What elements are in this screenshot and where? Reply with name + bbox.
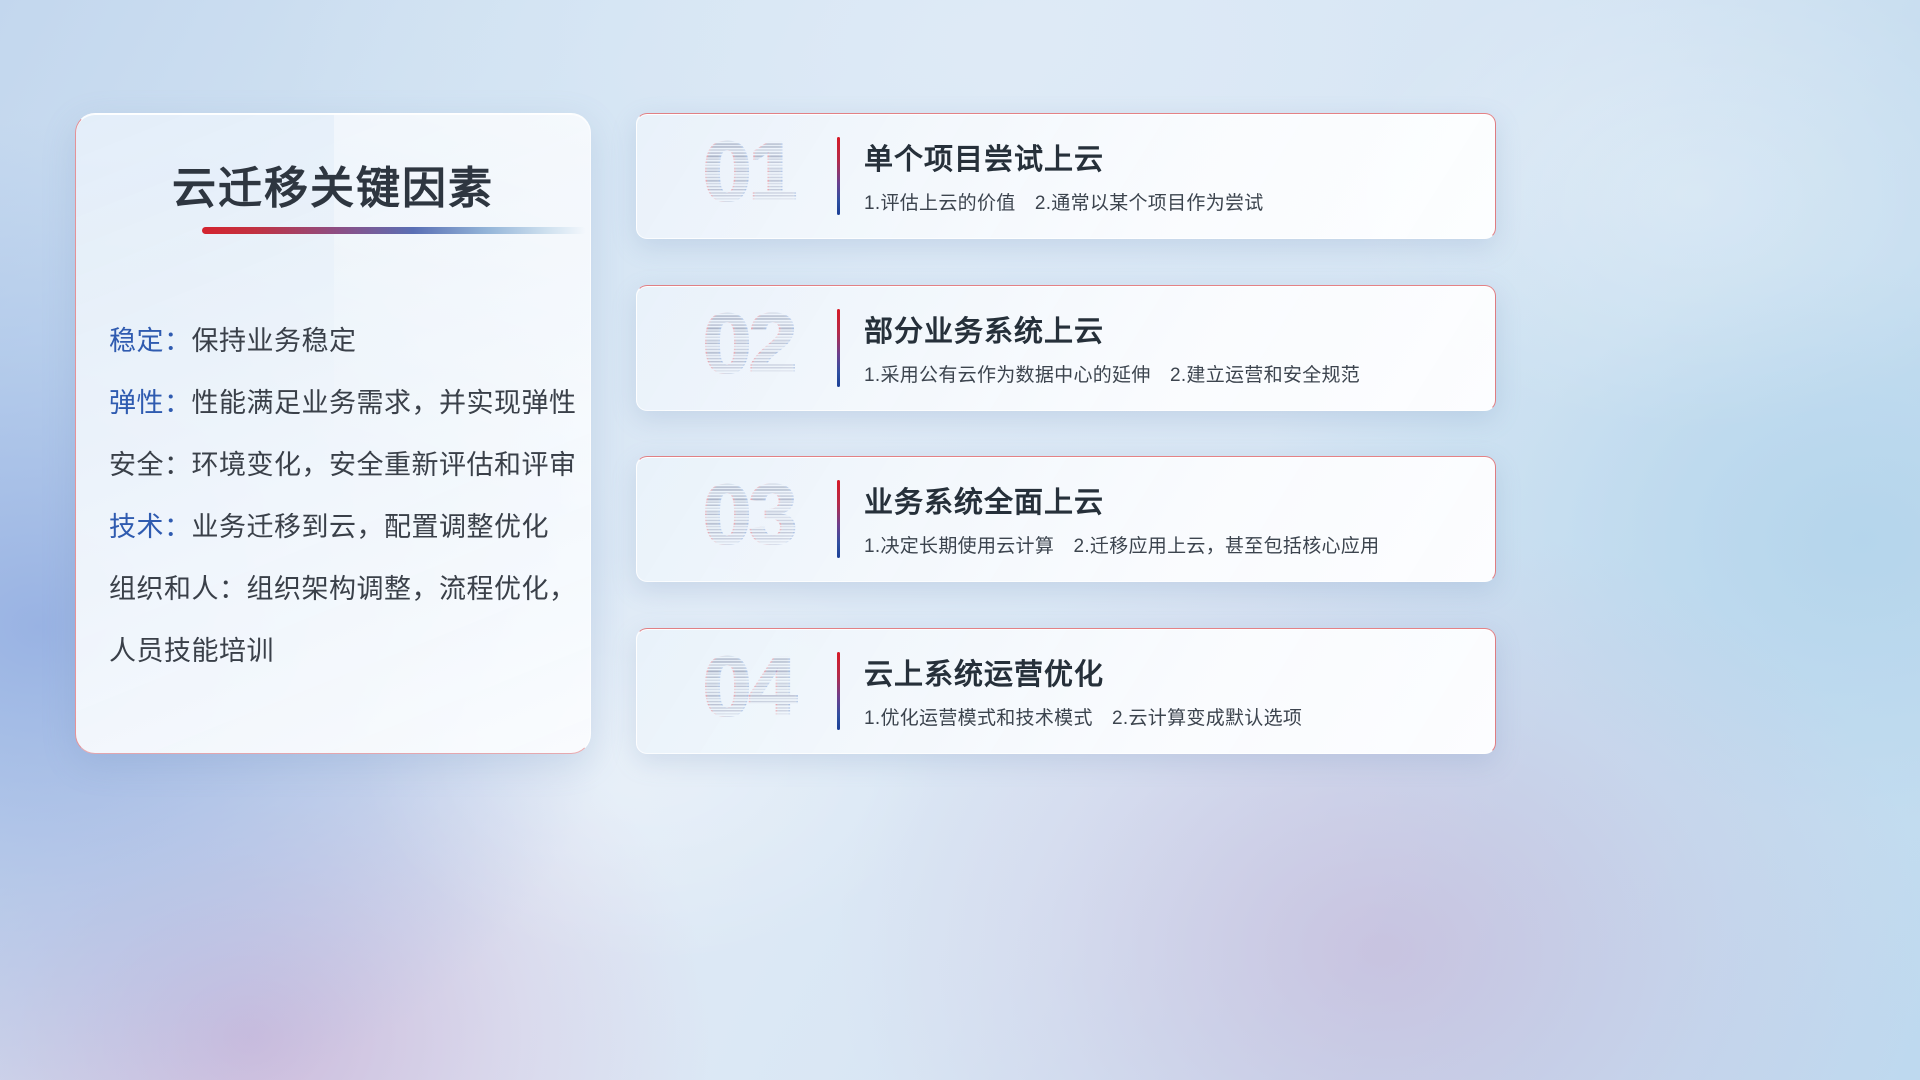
key-factor-label: 稳定：	[109, 326, 192, 356]
key-factor-value: 组织架构调整，流程优化，	[247, 574, 577, 604]
svg-text:04: 04	[703, 644, 797, 735]
stage-number-04: 040404	[675, 644, 823, 738]
card-accent-divider	[837, 137, 840, 215]
stage-card[interactable]: 010101单个项目尝试上云1.评估上云的价值 2.通常以某个项目作为尝试	[636, 113, 1496, 239]
card-accent-divider	[837, 480, 840, 558]
card-subtitle: 1.决定长期使用云计算 2.迁移应用上云，甚至包括核心应用	[864, 531, 1379, 558]
stage-card[interactable]: 040404云上系统运营优化1.优化运营模式和技术模式 2.云计算变成默认选项	[636, 628, 1496, 754]
key-factors-list: 稳定：保持业务稳定弹性：性能满足业务需求，并实现弹性安全：环境变化，安全重新评估…	[109, 310, 570, 682]
stage-card[interactable]: 020202部分业务系统上云1.采用公有云作为数据中心的延伸 2.建立运营和安全…	[636, 285, 1496, 411]
title-underline-gradient	[202, 227, 586, 234]
key-factor-row: 人员技能培训	[109, 620, 570, 682]
key-factor-value: 业务迁移到云，配置调整优化	[192, 512, 550, 542]
key-factor-row: 技术：业务迁移到云，配置调整优化	[109, 496, 570, 558]
key-factor-value: 保持业务稳定	[192, 326, 357, 356]
key-factor-label: 技术：	[109, 512, 192, 542]
key-factor-row: 安全：环境变化，安全重新评估和评审	[109, 434, 570, 496]
key-factor-row: 弹性：性能满足业务需求，并实现弹性	[109, 372, 570, 434]
card-title: 部分业务系统上云	[864, 308, 1104, 350]
key-factor-value: 环境变化，安全重新评估和评审	[192, 450, 577, 480]
key-factor-row: 组织和人：组织架构调整，流程优化，	[109, 558, 570, 620]
panel-title: 云迁移关键因素	[76, 152, 590, 216]
card-title: 业务系统全面上云	[864, 479, 1104, 521]
stage-number-03: 030303	[675, 472, 823, 566]
key-factor-label: 弹性：	[109, 388, 192, 418]
key-factors-panel: 云迁移关键因素 稳定：保持业务稳定弹性：性能满足业务需求，并实现弹性安全：环境变…	[75, 113, 591, 754]
key-factor-label: 安全：	[109, 450, 192, 480]
key-factor-value: 人员技能培训	[109, 636, 274, 666]
stage-card[interactable]: 030303业务系统全面上云1.决定长期使用云计算 2.迁移应用上云，甚至包括核…	[636, 456, 1496, 582]
svg-text:01: 01	[703, 129, 795, 220]
card-title: 云上系统运营优化	[864, 651, 1104, 693]
card-accent-divider	[837, 652, 840, 730]
svg-text:02: 02	[703, 301, 795, 392]
stage-number-01: 010101	[675, 129, 823, 223]
card-accent-divider	[837, 309, 840, 387]
stage-number-02: 020202	[675, 301, 823, 395]
card-subtitle: 1.优化运营模式和技术模式 2.云计算变成默认选项	[864, 703, 1302, 730]
svg-text:03: 03	[703, 472, 795, 563]
card-subtitle: 1.采用公有云作为数据中心的延伸 2.建立运营和安全规范	[864, 360, 1360, 387]
key-factor-label: 组织和人：	[109, 574, 247, 604]
card-subtitle: 1.评估上云的价值 2.通常以某个项目作为尝试	[864, 188, 1264, 215]
slide-stage: 云迁移关键因素 稳定：保持业务稳定弹性：性能满足业务需求，并实现弹性安全：环境变…	[0, 0, 1920, 1080]
key-factor-row: 稳定：保持业务稳定	[109, 310, 570, 372]
card-title: 单个项目尝试上云	[864, 136, 1104, 178]
key-factor-value: 性能满足业务需求，并实现弹性	[192, 388, 577, 418]
